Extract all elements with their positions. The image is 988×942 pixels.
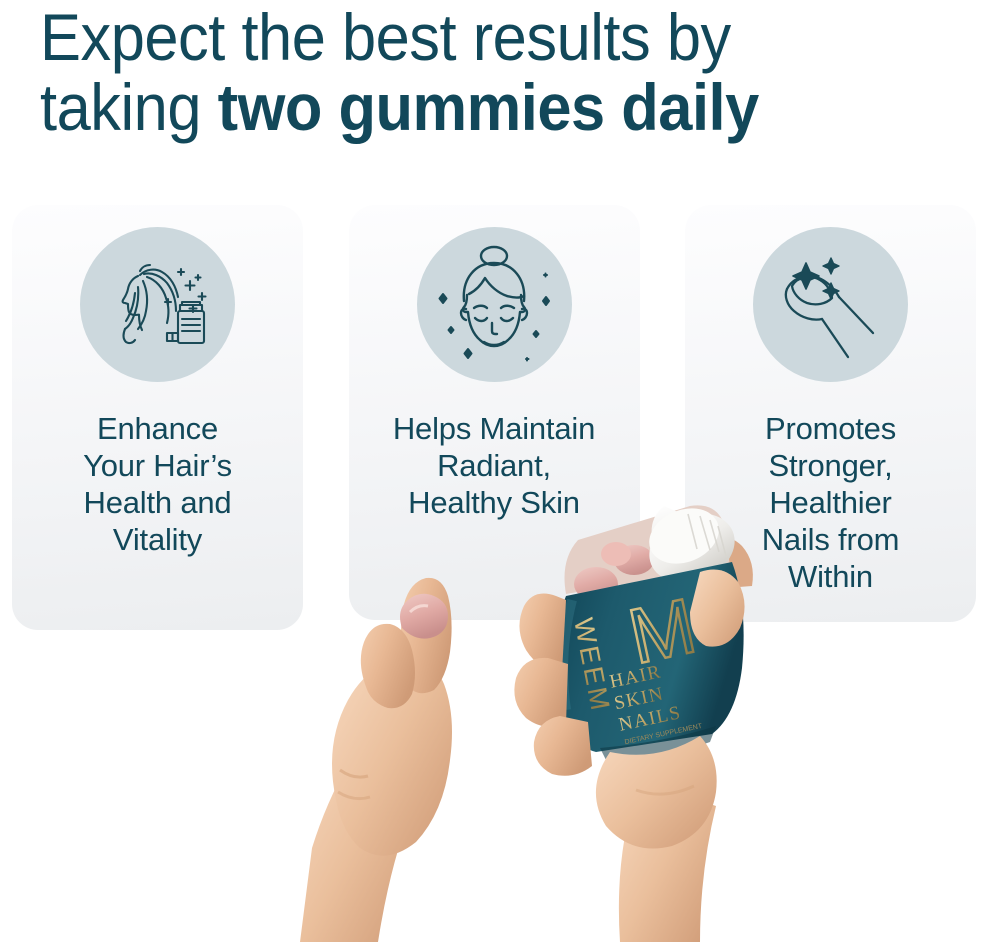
strong-nails-icon [753, 227, 908, 382]
hair-vitality-icon [80, 227, 235, 382]
headline-line-1: Expect the best results by [40, 0, 731, 74]
svg-text:NAILS: NAILS [617, 702, 683, 736]
feature-cards-row: Enhance Your Hair’s Health and Vitality [12, 205, 976, 630]
bottle-label-lines: HAIR SKIN NAILS [608, 659, 684, 736]
feature-card-nails: Promotes Stronger, Healthier Nails from … [685, 205, 976, 622]
radiant-skin-face-icon [417, 227, 572, 382]
page-headline: Expect the best results by taking two gu… [40, 2, 891, 142]
headline-line-2-bold: two gummies daily [218, 70, 759, 144]
svg-text:DIETARY SUPPLEMENT: DIETARY SUPPLEMENT [624, 723, 703, 746]
svg-text:HAIR: HAIR [608, 661, 664, 692]
feature-card-hair-title: Enhance Your Hair’s Health and Vitality [34, 410, 282, 558]
headline-line-2-plain: taking [40, 70, 218, 144]
feature-card-skin: Helps Maintain Radiant, Healthy Skin [349, 205, 640, 620]
feature-card-hair: Enhance Your Hair’s Health and Vitality [12, 205, 303, 630]
feature-card-nails-title: Promotes Stronger, Healthier Nails from … [707, 410, 955, 595]
svg-text:SKIN: SKIN [612, 683, 666, 714]
bottle-brand-text: WEEM [568, 615, 616, 715]
left-hand-holding-gummy [300, 578, 452, 942]
feature-card-skin-title: Helps Maintain Radiant, Healthy Skin [370, 410, 618, 521]
